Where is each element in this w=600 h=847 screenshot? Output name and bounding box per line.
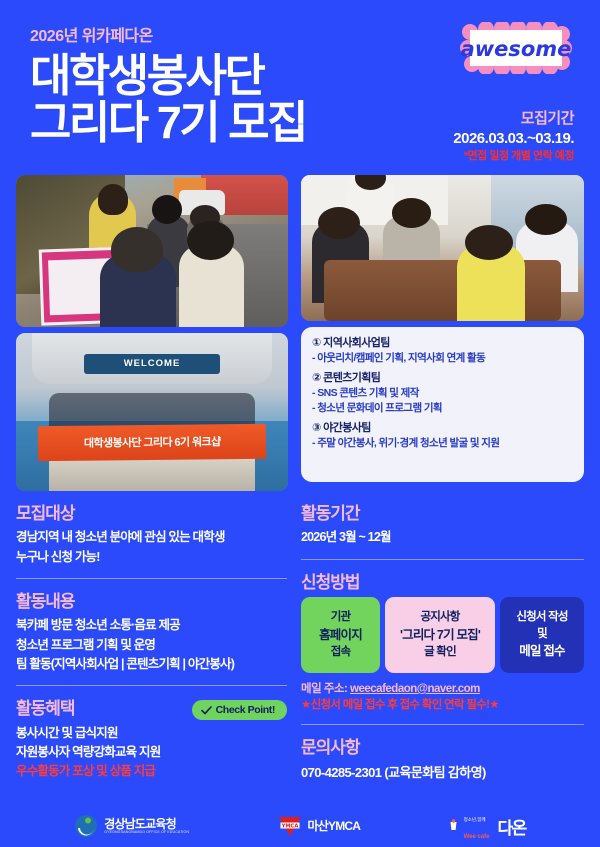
section-benefits: 활동혜택 Check Point! 봉사시간 및 급식지원 자원봉사자 역량강화… [16, 696, 287, 781]
section-benefits-title: 활동혜택 [16, 698, 75, 719]
section-target-line: 누구나 신청 가능! [16, 548, 287, 567]
team-detail: - 청소년 문화데이 프로그램 기획 [312, 401, 573, 416]
section-activity-period: 활동기간 2026년 3월 ~ 12월 [301, 501, 584, 548]
mail-label: 메일 주소: [301, 683, 350, 695]
team-item: ② 콘텐츠기획팀 - SNS 콘텐츠 기획 및 제작 - 청소년 문화데이 프로… [312, 371, 573, 416]
apply-step-homepage[interactable]: 기관 홈페이지 접속 [301, 597, 380, 673]
section-activities-line: 청소년 프로그램 기획 및 운영 [16, 636, 287, 655]
apply-warning: ★신청서 메일 접수 후 접수 확인 연락 필수!★ [301, 697, 584, 713]
education-office-subtitle: GYEONGSANGNAMDO OFFICE OF EDUCATION [104, 830, 189, 834]
recruit-period-block: 모집기간 2026.03.03.~03.19. *면접 일정 개별 연락 예정 [453, 110, 574, 163]
recruit-period-title: 모집기간 [453, 110, 574, 128]
footer-logos: 경상남도교육청 GYEONGSANGNAMDO OFFICE OF EDUCAT… [0, 805, 600, 847]
section-target-title: 모집대상 [16, 503, 287, 524]
team-item: ③ 야간봉사팀 - 주말 야간봉사, 위기·경계 청소년 발굴 및 지원 [312, 421, 573, 451]
section-target: 모집대상 경남지역 내 청소년 분야에 관심 있는 대학생 누구나 신청 가능! [16, 501, 287, 567]
photo-outreach-campaign [16, 175, 288, 327]
section-activities-line: 팀 활동(지역사회사업 | 콘텐츠기획 | 야간봉사) [16, 655, 287, 674]
section-activities: 활동내용 북카페 방문 청소년 소통·음료 제공 청소년 프로그램 기획 및 운… [16, 589, 287, 674]
section-activity-period-title: 활동기간 [301, 503, 584, 524]
team-title: ① 지역사회사업팀 [312, 336, 573, 351]
team-info-card: ① 지역사회사업팀 - 아웃리치/캠페인 기획, 지역사회 연계 활동 ② 콘텐… [301, 327, 584, 482]
wee-cafe-subtitle: 청소년,함께 [464, 817, 486, 822]
divider [301, 724, 584, 725]
apply-step-line: 접속 [331, 644, 351, 661]
section-benefits-header: 활동혜택 Check Point! [16, 698, 287, 723]
contact-phone-number[interactable]: 070-4285-2301 (교육문화팀 감하영) [301, 762, 584, 781]
team-detail: - 주말 야간봉사, 위기·경계 청소년 발굴 및 지원 [312, 436, 573, 451]
mail-address-line: 메일 주소: weecafedaon@naver.com [301, 681, 584, 697]
divider [301, 559, 584, 560]
left-column: 모집대상 경남지역 내 청소년 분야에 관심 있는 대학생 누구나 신청 가능!… [16, 501, 287, 782]
masan-ymca-logo: YMCA 마산YMCA [278, 815, 361, 837]
photo-gallery: WELCOME 대학생봉사단 그리다 6기 워크샵 ① 지역사회사업팀 - 아웃… [16, 175, 584, 495]
team-title: ③ 야간봉사팀 [312, 421, 573, 436]
education-office-name: 경상남도교육청 [104, 818, 189, 831]
section-activities-line: 북카페 방문 청소년 소통·음료 제공 [16, 616, 287, 635]
title-line-1: 대학생봉사단 [30, 50, 263, 101]
apply-step-line: 기관 [331, 609, 351, 626]
section-target-line: 경남지역 내 청소년 분야에 관심 있는 대학생 [16, 528, 287, 547]
poster-header: 2026년 위카페다온 대학생봉사단 그리다 7기 모집 awesome 모집기 [0, 0, 600, 175]
section-contact-title: 문의사항 [301, 737, 584, 758]
daon-name: 다온 [497, 814, 525, 839]
photo-workshop-group: WELCOME 대학생봉사단 그리다 6기 워크샵 [16, 333, 288, 491]
apply-step-notice[interactable]: 공지사항 '그리다 7기 모집' 글 확인 [385, 597, 495, 673]
apply-step-line: 공지사항 [420, 609, 459, 626]
photo-workshop-banner-text: 대학생봉사단 그리다 6기 워크샵 [38, 423, 267, 460]
section-contact: 문의사항 070-4285-2301 (교육문화팀 감하영) [301, 735, 584, 781]
apply-step-submit[interactable]: 신청서 작성 및 메일 접수 [500, 597, 584, 673]
photo-bookcafe-activity [301, 175, 584, 321]
apply-step-line: 및 [537, 626, 547, 643]
status-badge: Check Point! [192, 700, 287, 720]
wee-cafe-daon-logo: 청소년,함께 Wee cafe 다온 [449, 809, 526, 843]
section-benefits-line-emphasis: 우수활동가 포상 및 상품 지급 [16, 762, 287, 781]
wee-cafe-mark-label: Wee cafe [464, 834, 490, 840]
apply-step-line: 신청서 작성 [516, 609, 567, 626]
recruit-period-dates: 2026.03.03.~03.19. [453, 130, 574, 148]
section-activity-period-line: 2026년 3월 ~ 12월 [301, 528, 584, 547]
section-benefits-line: 자원봉사자 역량강화교육 지원 [16, 743, 287, 762]
poster-body: 모집대상 경남지역 내 청소년 분야에 관심 있는 대학생 누구나 신청 가능!… [16, 501, 584, 782]
team-detail: - SNS 콘텐츠 기획 및 제작 [312, 386, 573, 401]
awesome-sticker-text: awesome [461, 37, 572, 61]
apply-step-line: 홈페이지 [319, 626, 362, 644]
divider [16, 578, 287, 579]
divider [16, 685, 287, 686]
apply-step-line: '그리다 7기 모집' [400, 626, 480, 644]
gyeongnam-office-of-education-logo: 경상남도교육청 GYEONGSANGNAMDO OFFICE OF EDUCAT… [74, 814, 189, 838]
team-detail: - 아웃리치/캠페인 기획, 지역사회 연계 활동 [312, 351, 573, 366]
apply-step-line: 메일 접수 [519, 642, 564, 660]
apply-steps: 기관 홈페이지 접속 공지사항 '그리다 7기 모집' 글 확인 신청서 작성 … [301, 597, 584, 673]
section-benefits-line: 봉사시간 및 급식지원 [16, 724, 287, 743]
section-apply-method: 신청방법 기관 홈페이지 접속 공지사항 '그리다 7기 모집' 글 확인 신청… [301, 570, 584, 713]
svg-text:YMCA: YMCA [280, 823, 298, 829]
check-icon [201, 706, 212, 715]
recruit-period-note: *면접 일정 개별 연락 예정 [453, 150, 574, 163]
status-badge-label: Check Point! [216, 704, 275, 716]
wee-cafe-cup-icon [449, 819, 458, 833]
right-column: 활동기간 2026년 3월 ~ 12월 신청방법 기관 홈페이지 접속 공지사항… [301, 501, 584, 782]
ymca-name: 마산YMCA [308, 820, 361, 833]
mail-address[interactable]: weecafedaon@naver.com [350, 683, 480, 695]
education-office-mark-icon [74, 814, 98, 838]
apply-step-line: 글 확인 [424, 644, 456, 661]
section-activities-title: 활동내용 [16, 591, 287, 612]
poster-root: 2026년 위카페다온 대학생봉사단 그리다 7기 모집 awesome 모집기 [0, 0, 600, 847]
awesome-sticker: awesome [460, 22, 572, 74]
ymca-triangle-icon: YMCA [278, 815, 302, 837]
team-title: ② 콘텐츠기획팀 [312, 371, 573, 386]
team-item: ① 지역사회사업팀 - 아웃리치/캠페인 기획, 지역사회 연계 활동 [312, 336, 573, 366]
photo-welcome-sign: WELCOME [84, 354, 220, 375]
section-apply-title: 신청방법 [301, 572, 584, 593]
